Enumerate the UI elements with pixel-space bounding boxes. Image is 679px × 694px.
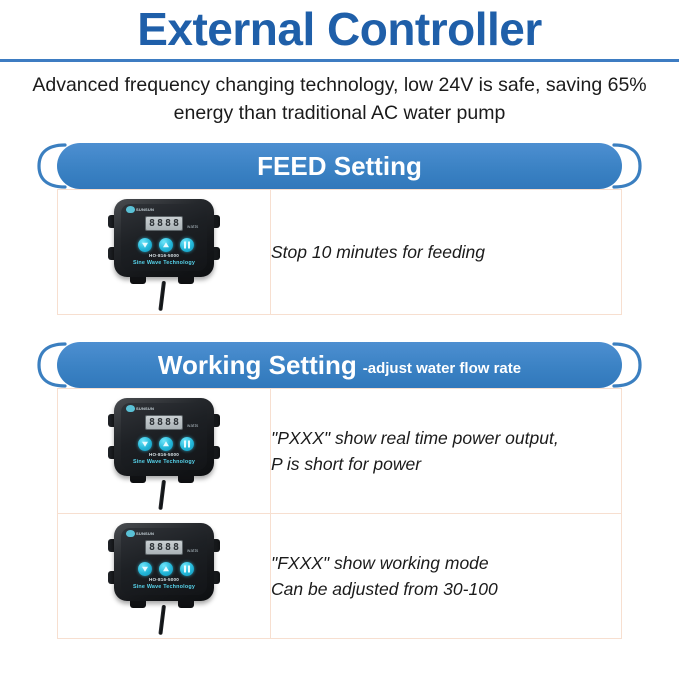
feed-banner: FEED Setting (35, 143, 644, 189)
brand-logo-icon: SUNSUN (126, 530, 154, 537)
description-line: "PXXX" show real time power output, (271, 425, 621, 451)
pause-icon (184, 441, 190, 448)
down-arrow-icon (142, 243, 148, 248)
device-body: SUNSUN 8 8 8 8 watts (114, 398, 214, 476)
device-technology-label: Sine Wave Technology (114, 585, 214, 590)
lcd-digit: 8 (165, 543, 171, 553)
watts-label: watts (187, 225, 199, 230)
pause-icon (184, 566, 190, 573)
up-arrow-icon (163, 243, 169, 248)
brand-logo-icon: SUNSUN (126, 206, 154, 213)
device-model-label: HO-816-5000 (114, 254, 214, 259)
pause-icon (184, 242, 190, 249)
brand-mark-icon (126, 530, 135, 537)
down-arrow-icon (142, 442, 148, 447)
up-arrow-button[interactable] (159, 562, 173, 576)
title-divider (0, 59, 679, 62)
device-button-row (138, 562, 194, 576)
description-line: Can be adjusted from 30-100 (271, 576, 621, 602)
pause-button[interactable] (180, 562, 194, 576)
lcd-digit: 8 (149, 543, 155, 553)
banner-right-bracket-icon (610, 342, 644, 388)
section-feed: FEED Setting (0, 143, 679, 315)
power-cable (158, 281, 166, 311)
lcd-digit: 8 (157, 219, 163, 229)
working-spec-table: SUNSUN 8 8 8 8 watts (57, 388, 622, 639)
up-arrow-icon (163, 442, 169, 447)
feed-banner-title: FEED Setting (257, 153, 422, 179)
page-header: External Controller Advanced frequency c… (0, 0, 679, 127)
device-model-label: HO-816-5000 (114, 453, 214, 458)
table-row: SUNSUN 8 8 8 8 watts (58, 514, 622, 639)
spacer (0, 315, 679, 342)
lcd-digit: 8 (149, 418, 155, 428)
up-arrow-button[interactable] (159, 437, 173, 451)
lcd-digit: 8 (173, 418, 179, 428)
lcd-digit: 8 (173, 219, 179, 229)
up-arrow-button[interactable] (159, 238, 173, 252)
pause-button[interactable] (180, 238, 194, 252)
brand-name: SUNSUN (136, 407, 154, 411)
working-banner-pill: Working Setting -adjust water flow rate (57, 342, 622, 388)
working-banner: Working Setting -adjust water flow rate (35, 342, 644, 388)
down-arrow-button[interactable] (138, 238, 152, 252)
brand-logo-icon: SUNSUN (126, 405, 154, 412)
lcd-digit: 8 (149, 219, 155, 229)
down-arrow-icon (142, 567, 148, 572)
device-cell: SUNSUN 8 8 8 8 watts (58, 389, 271, 514)
description-cell: "PXXX" show real time power output, P is… (271, 389, 622, 514)
description-line: Stop 10 minutes for feeding (271, 239, 621, 265)
section-working: Working Setting -adjust water flow rate (0, 342, 679, 639)
brand-mark-icon (126, 206, 135, 213)
device-body: SUNSUN 8 8 8 8 watts (114, 199, 214, 277)
lcd-digit: 8 (165, 219, 171, 229)
brand-name: SUNSUN (136, 208, 154, 212)
lcd-display: 8 8 8 8 (145, 415, 183, 430)
controller-device-image: SUNSUN 8 8 8 8 watts (100, 517, 228, 635)
pause-button[interactable] (180, 437, 194, 451)
feed-spec-table: SUNSUN 8 8 8 8 watts (57, 189, 622, 315)
table-row: SUNSUN 8 8 8 8 watts (58, 389, 622, 514)
watts-label: watts (187, 424, 199, 429)
spacer (0, 127, 679, 143)
device-cell: SUNSUN 8 8 8 8 watts (58, 190, 271, 315)
description-cell: Stop 10 minutes for feeding (271, 190, 622, 315)
table-row: SUNSUN 8 8 8 8 watts (58, 190, 622, 315)
device-button-row (138, 437, 194, 451)
power-cable (158, 480, 166, 510)
controller-device-image: SUNSUN 8 8 8 8 watts (100, 392, 228, 510)
lcd-digit: 8 (165, 418, 171, 428)
device-model-label: HO-816-5000 (114, 578, 214, 583)
feed-banner-pill: FEED Setting (57, 143, 622, 189)
banner-right-bracket-icon (610, 143, 644, 189)
brand-mark-icon (126, 405, 135, 412)
lcd-display: 8 8 8 8 (145, 540, 183, 555)
up-arrow-icon (163, 567, 169, 572)
lcd-digit: 8 (173, 543, 179, 553)
working-banner-subtitle: -adjust water flow rate (363, 361, 521, 376)
description-line: "FXXX" show working mode (271, 550, 621, 576)
power-cable (158, 605, 166, 635)
controller-device-image: SUNSUN 8 8 8 8 watts (100, 193, 228, 311)
watts-label: watts (187, 549, 199, 554)
description-cell: "FXXX" show working mode Can be adjusted… (271, 514, 622, 639)
description-line: P is short for power (271, 451, 621, 477)
page-subtitle: Advanced frequency changing technology, … (0, 72, 679, 127)
working-banner-title: Working Setting (158, 352, 357, 378)
brand-name: SUNSUN (136, 532, 154, 536)
device-technology-label: Sine Wave Technology (114, 460, 214, 465)
device-cell: SUNSUN 8 8 8 8 watts (58, 514, 271, 639)
page-title: External Controller (0, 0, 679, 56)
lcd-digit: 8 (157, 418, 163, 428)
lcd-display: 8 8 8 8 (145, 216, 183, 231)
lcd-digit: 8 (157, 543, 163, 553)
device-button-row (138, 238, 194, 252)
down-arrow-button[interactable] (138, 437, 152, 451)
device-body: SUNSUN 8 8 8 8 watts (114, 523, 214, 601)
down-arrow-button[interactable] (138, 562, 152, 576)
device-technology-label: Sine Wave Technology (114, 261, 214, 266)
